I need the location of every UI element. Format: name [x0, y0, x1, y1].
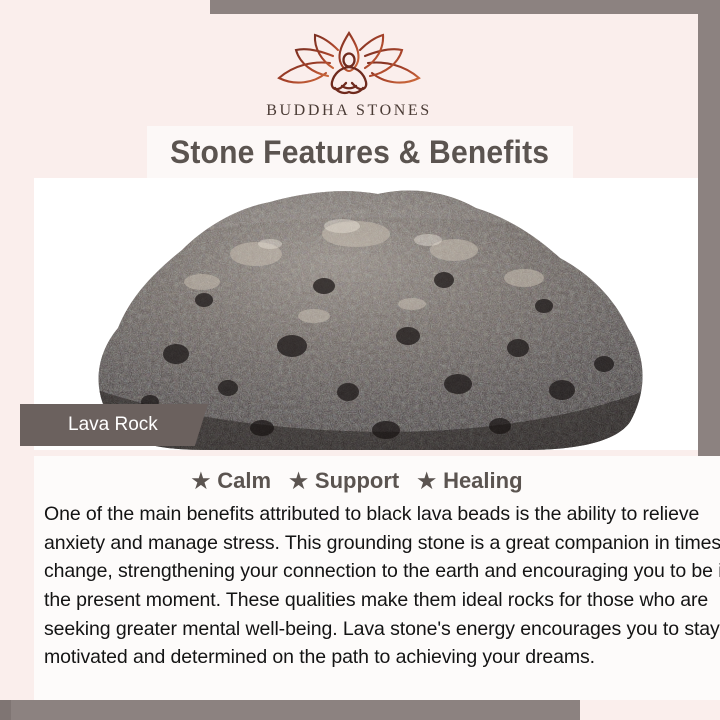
frame-band-top-right: [210, 0, 720, 14]
description-text: One of the main benefits attributed to b…: [34, 500, 720, 672]
brand-name: BUDDHA STONES: [266, 102, 432, 120]
benefit-label: Healing: [443, 468, 522, 494]
benefit-label: Calm: [217, 468, 271, 494]
benefit-item-healing: ★ Healing: [417, 468, 522, 494]
brand-header: BUDDHA STONES: [0, 14, 698, 124]
benefit-label: Support: [315, 468, 399, 494]
star-icon: ★: [191, 471, 210, 492]
title-banner: Stone Features & Benefits: [147, 126, 573, 178]
frame-band-bottom: [0, 700, 580, 720]
lotus-meditation-icon: [274, 30, 424, 96]
page-title: Stone Features & Benefits: [170, 134, 549, 171]
benefit-item-calm: ★ Calm: [191, 468, 271, 494]
stone-features-poster: BUDDHA STONES Stone Features & Benefits: [0, 0, 720, 720]
benefits-row: ★ Calm ★ Support ★ Healing: [34, 456, 720, 494]
content-panel: ★ Calm ★ Support ★ Healing One of the ma…: [34, 456, 720, 700]
benefit-item-support: ★ Support: [289, 468, 399, 494]
stone-name-badge: Lava Rock: [20, 404, 208, 446]
star-icon: ★: [417, 471, 436, 492]
stone-name-label: Lava Rock: [20, 414, 158, 436]
star-icon: ★: [289, 471, 308, 492]
